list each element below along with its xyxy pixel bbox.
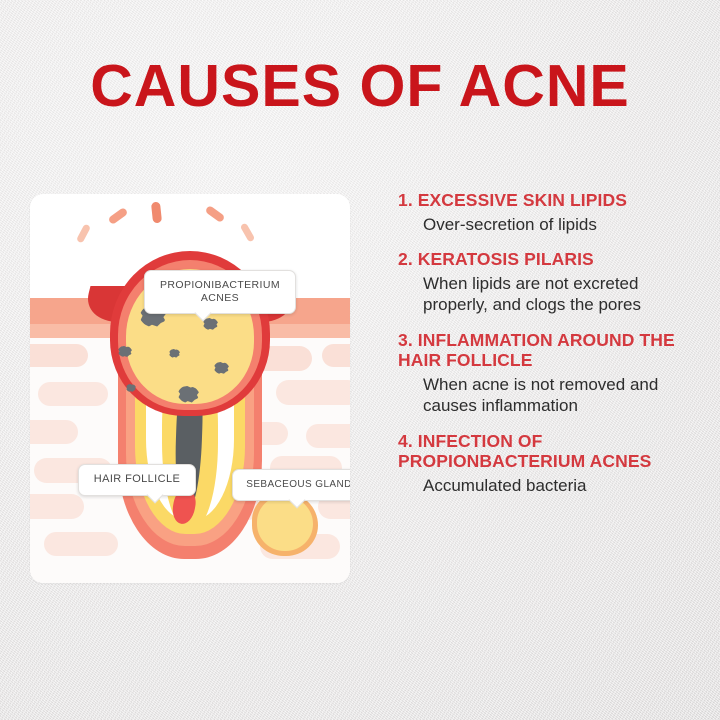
inflammation-ray xyxy=(151,202,162,224)
cause-heading-3: 3. INFLAMMATION AROUND THE HAIR FOLLICLE xyxy=(398,330,706,371)
pustule-neck xyxy=(168,334,212,392)
callout-propionibacterium-acnes[interactable]: PROPIONIBACTERIUM ACNES xyxy=(144,270,296,314)
dermis-cell xyxy=(276,380,350,405)
inflammation-ray xyxy=(205,205,226,223)
causes-list: 1. EXCESSIVE SKIN LIPIDS Over-secretion … xyxy=(398,190,706,510)
dermis-cell xyxy=(30,344,88,367)
cause-item-4: 4. INFECTION OF PROPIONBACTERIUM ACNES A… xyxy=(398,431,706,497)
callout-sebaceous-gland[interactable]: SEBACEOUS GLAND xyxy=(232,469,350,501)
cause-description-1: Over-secretion of lipids xyxy=(423,214,706,235)
inflammation-ray xyxy=(240,223,256,243)
dermis-cell xyxy=(30,494,84,519)
sebaceous-gland-fill xyxy=(257,496,313,551)
cause-description-2: When lipids are not excreted properly, a… xyxy=(423,273,706,316)
callout-sebaceous-gland-label: SEBACEOUS GLAND xyxy=(246,479,350,491)
dermis-cell xyxy=(322,344,350,367)
dermis-cell xyxy=(30,420,78,444)
inflammation-ray xyxy=(108,207,129,225)
cause-description-3: When acne is not removed and causes infl… xyxy=(423,374,706,417)
dermis-cell xyxy=(306,424,350,448)
cause-heading-2: 2. KERATOSIS PILARIS xyxy=(398,249,706,270)
infographic-page: CAUSES OF ACNE PROPIONIBACTERIUM ACNES xyxy=(0,0,720,720)
dermis-cell xyxy=(38,382,108,406)
cause-heading-4: 4. INFECTION OF PROPIONBACTERIUM ACNES xyxy=(398,431,706,472)
cause-description-4: Accumulated bacteria xyxy=(423,475,706,496)
dermis-cell xyxy=(44,532,118,556)
page-title: CAUSES OF ACNE xyxy=(0,52,720,120)
cause-item-2: 2. KERATOSIS PILARIS When lipids are not… xyxy=(398,249,706,315)
cause-heading-1: 1. EXCESSIVE SKIN LIPIDS xyxy=(398,190,706,211)
callout-propionibacterium-acnes-label: PROPIONIBACTERIUM ACNES xyxy=(145,279,295,305)
cause-item-3: 3. INFLAMMATION AROUND THE HAIR FOLLICLE… xyxy=(398,330,706,417)
callout-hair-follicle[interactable]: HAIR FOLLICLE xyxy=(78,464,196,496)
cause-item-1: 1. EXCESSIVE SKIN LIPIDS Over-secretion … xyxy=(398,190,706,235)
inflammation-ray xyxy=(76,223,91,243)
acne-diagram-card: PROPIONIBACTERIUM ACNES HAIR FOLLICLE SE… xyxy=(30,194,350,583)
callout-hair-follicle-label: HAIR FOLLICLE xyxy=(94,473,181,486)
